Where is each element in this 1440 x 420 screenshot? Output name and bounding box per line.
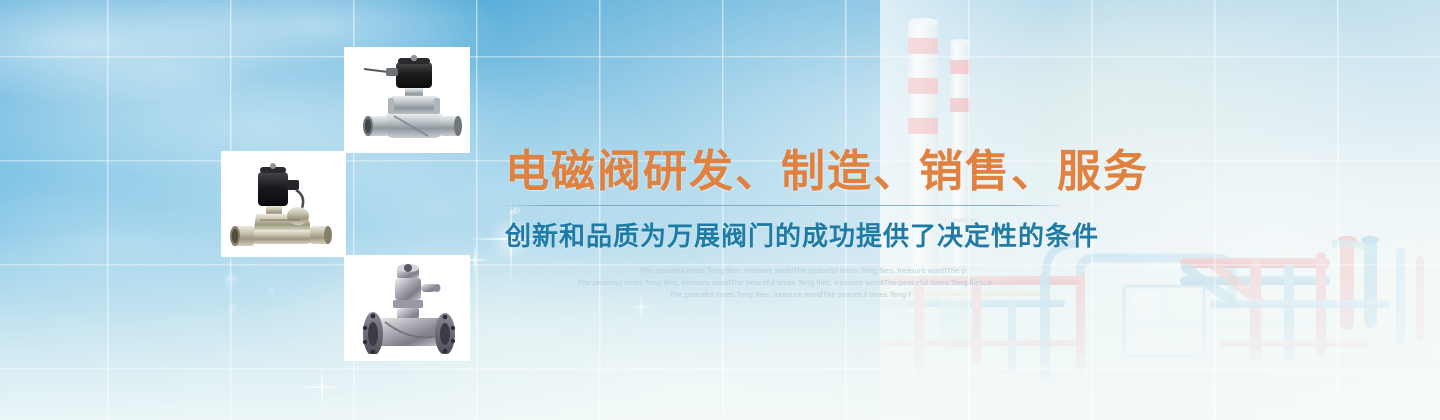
page-subtitle: 创新和品质为万展阀门的成功提供了决定性的条件 [505, 216, 1105, 253]
hero-banner: 电磁阀研发、制造、销售、服务 创新和品质为万展阀门的成功提供了决定性的条件 Th… [0, 0, 1440, 420]
blurb-line: The peaceful times Teng flies, treasure … [505, 277, 1065, 289]
page-title: 电磁阀研发、制造、销售、服务 [505, 148, 1105, 196]
product-tile-solenoid-valve-flanged[interactable] [345, 256, 469, 360]
banner-blurb: The peaceful times Teng flies, treasure … [505, 265, 1065, 302]
solenoid-valve-threaded-top-icon [352, 54, 462, 146]
blurb-line: The peaceful times Teng flies, treasure … [505, 265, 1065, 277]
solenoid-valve-threaded-left-icon [230, 158, 338, 250]
title-divider [505, 205, 1060, 206]
solenoid-valve-flanged-icon [351, 262, 463, 354]
banner-copy: 电磁阀研发、制造、销售、服务 创新和品质为万展阀门的成功提供了决定性的条件 Th… [505, 148, 1105, 302]
product-tile-solenoid-valve-threaded-left[interactable] [222, 152, 345, 256]
product-tile-solenoid-valve-threaded-top[interactable] [345, 48, 469, 152]
blurb-line: The peaceful times Teng flies, treasure … [505, 289, 1065, 301]
